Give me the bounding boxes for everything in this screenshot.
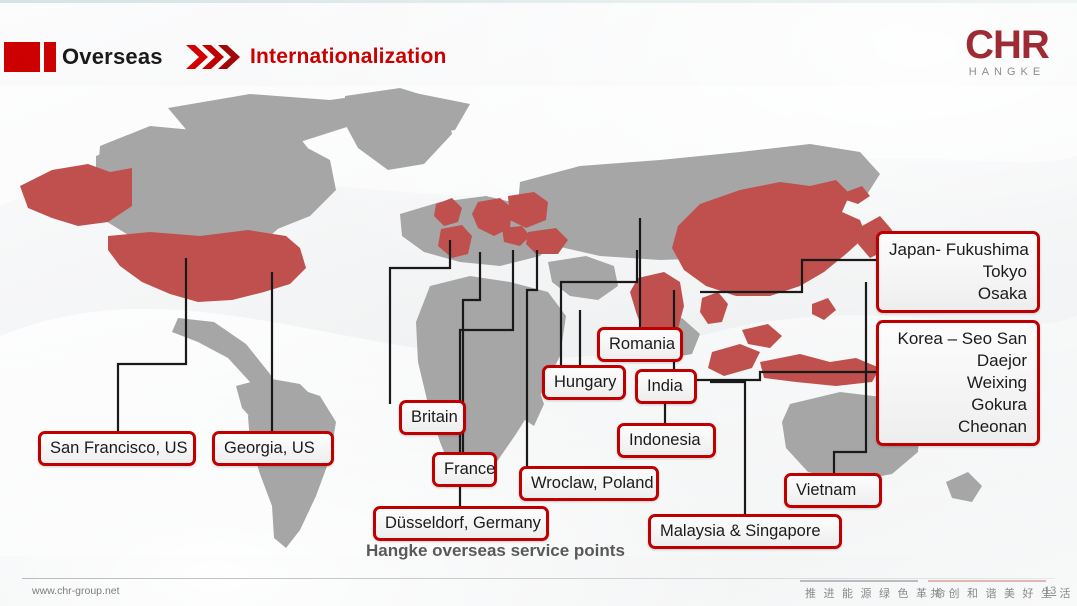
footer-slogan-right-rule [928, 580, 1046, 582]
callout-france[interactable]: France [432, 452, 497, 487]
slide-header: Overseas Internationalization [0, 36, 1077, 76]
callout-malaysia-singapore[interactable]: Malaysia & Singapore [648, 514, 842, 549]
callout-india[interactable]: India [635, 369, 697, 404]
footer-slogan-left-rule [800, 580, 918, 582]
header-subtitle: Internationalization [250, 42, 447, 72]
callout-san-francisco[interactable]: San Francisco, US [38, 431, 196, 466]
footer-page-number: 13 [1044, 585, 1056, 597]
callout-dusseldorf[interactable]: Düsseldorf, Germany [373, 506, 549, 541]
header-accent-block-small [44, 42, 56, 72]
callout-romania[interactable]: Romania [597, 327, 683, 362]
footer-url[interactable]: www.chr-group.net [32, 585, 120, 597]
footer-slogan-left: 推 进 能 源 绿 色 革 命 [805, 585, 947, 601]
callout-wroclaw[interactable]: Wroclaw, Poland [519, 466, 659, 501]
logo-wordmark: HANGKE [957, 66, 1057, 78]
header-accent-block-large [4, 42, 40, 72]
slide-canvas: Overseas Internationalization CHR HANGKE [0, 0, 1077, 606]
map-region-vietnam [700, 292, 728, 324]
callout-georgia[interactable]: Georgia, US [212, 431, 334, 466]
callout-japan[interactable]: Japan- Fukushima Tokyo Osaka [876, 231, 1040, 313]
callout-britain[interactable]: Britain [399, 400, 466, 435]
callout-korea[interactable]: Korea – Seo San Daejor Weixing Gokura Ch… [876, 320, 1040, 446]
callout-hungary[interactable]: Hungary [542, 365, 626, 400]
map-caption: Hangke overseas service points [366, 541, 625, 561]
map-region-usa [108, 230, 306, 302]
callout-vietnam[interactable]: Vietnam [784, 473, 882, 508]
slide-top-edge [0, 0, 1077, 3]
callout-indonesia[interactable]: Indonesia [617, 423, 716, 458]
logo-mark: CHR [957, 28, 1057, 62]
triple-chevron-right-icon [186, 44, 246, 75]
header-title: Overseas [62, 42, 163, 72]
company-logo: CHR HANGKE [957, 28, 1057, 78]
footer-divider [22, 578, 1055, 579]
